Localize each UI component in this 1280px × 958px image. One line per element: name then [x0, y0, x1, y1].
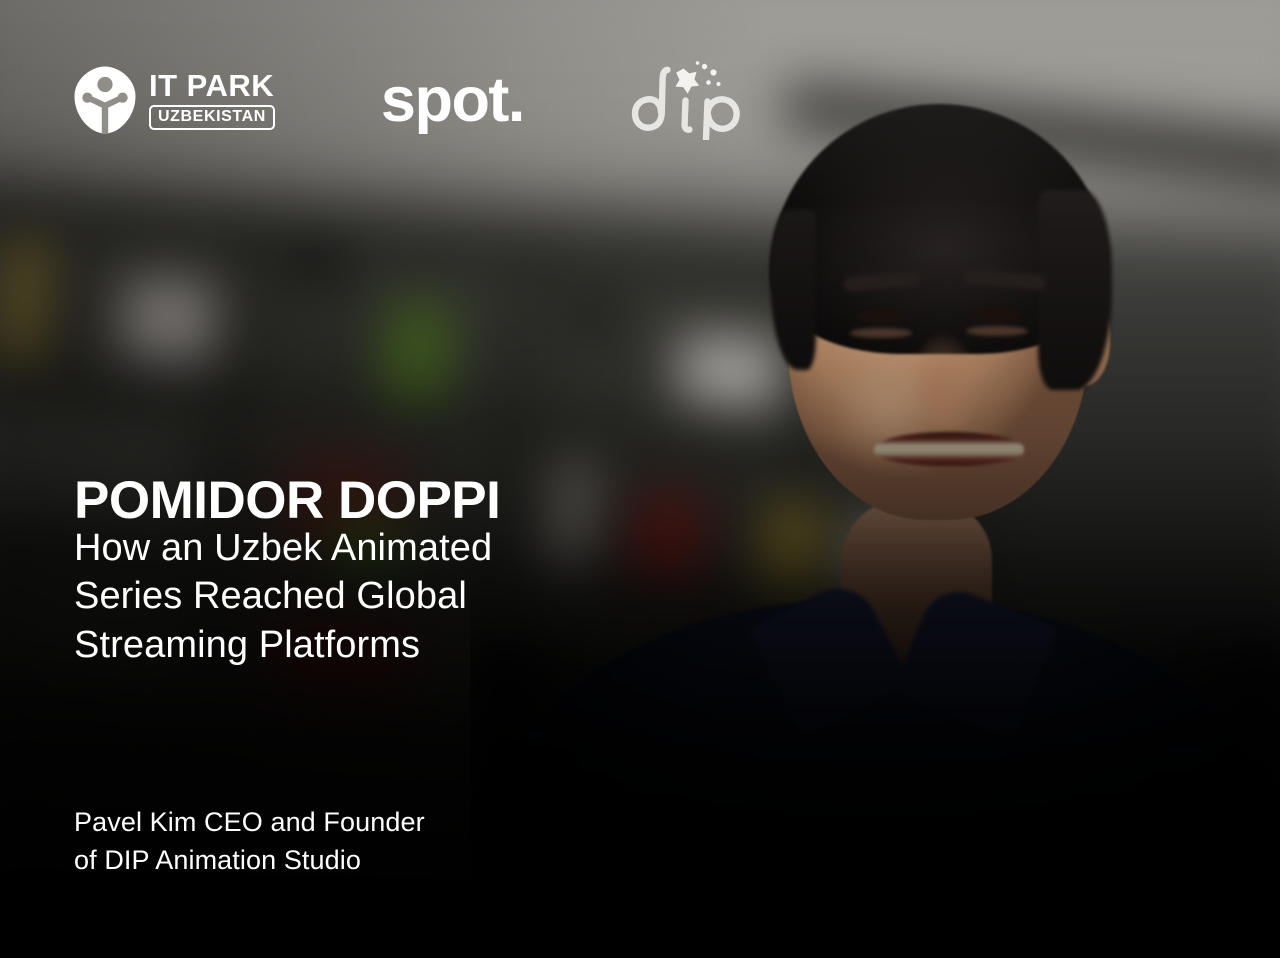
itpark-wordmark: IT PARK UZBEKISTAN	[149, 70, 275, 130]
logo-bar: IT PARK UZBEKISTAN spot.	[74, 57, 768, 143]
byline-line-1: Pavel Kim CEO and Founder	[74, 803, 425, 841]
subtitle-line-3: Streaming Platforms	[74, 621, 492, 669]
page-title: POMIDOR DOPPI	[74, 473, 500, 529]
poster-canvas: IT PARK UZBEKISTAN spot.	[0, 0, 1280, 958]
itpark-country-badge: UZBEKISTAN	[149, 105, 275, 130]
logo-dip[interactable]	[628, 60, 768, 140]
subtitle-line-2: Series Reached Global	[74, 572, 492, 620]
speaker-byline: Pavel Kim CEO and Founder of DIP Animati…	[74, 803, 425, 880]
logo-itpark[interactable]: IT PARK UZBEKISTAN	[74, 66, 275, 134]
byline-line-2: of DIP Animation Studio	[74, 841, 425, 879]
itpark-name: IT PARK	[149, 70, 275, 101]
subtitle-line-1: How an Uzbek Animated	[74, 524, 492, 572]
dip-wordmark-icon	[628, 60, 768, 140]
subtitle: How an Uzbek Animated Series Reached Glo…	[74, 524, 492, 669]
itpark-person-mark-icon	[74, 66, 136, 134]
logo-spot[interactable]: spot.	[381, 69, 524, 132]
